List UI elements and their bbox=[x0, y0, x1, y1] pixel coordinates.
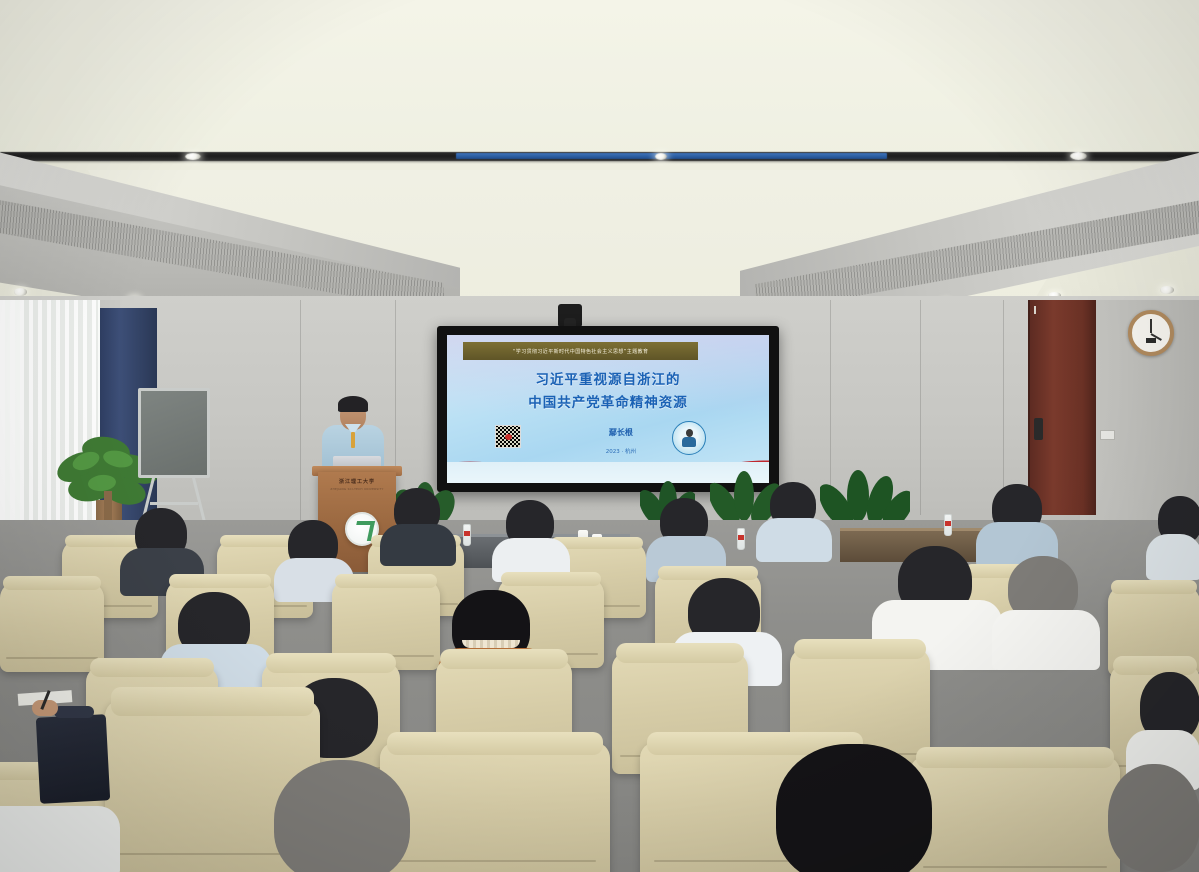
chair-headrest bbox=[916, 747, 1113, 768]
meeting-room-door[interactable] bbox=[1028, 300, 1096, 515]
attendee-body bbox=[380, 524, 456, 566]
chair-headrest bbox=[794, 639, 926, 659]
whiteboard-crossbar bbox=[150, 502, 198, 505]
attendee-taking-notes bbox=[0, 806, 120, 872]
chair-headrest bbox=[266, 653, 396, 673]
chair-headrest bbox=[387, 732, 603, 754]
ceiling-luminous-panel bbox=[0, 0, 1199, 160]
slide-title-line-2: 中国共产党革命精神资源 bbox=[447, 391, 769, 411]
bag-strap bbox=[54, 706, 94, 718]
podium-university-subtitle: ZHEJIANG SCI-TECH UNIVERSITY bbox=[322, 487, 392, 491]
chair-headrest bbox=[1111, 580, 1197, 594]
door-top-marker bbox=[1034, 306, 1036, 314]
ceiling-spotlight bbox=[655, 153, 667, 160]
ceiling-spotlight bbox=[185, 153, 201, 160]
podium-university-name: 浙江理工大学 bbox=[322, 478, 392, 485]
ceiling-downlight bbox=[14, 288, 27, 296]
chair-headrest bbox=[440, 649, 568, 669]
chair bbox=[910, 756, 1120, 872]
light-switch[interactable] bbox=[1100, 430, 1115, 440]
water-bottle bbox=[463, 524, 471, 546]
shoulder-bag bbox=[36, 714, 110, 804]
chair-headrest bbox=[111, 687, 313, 716]
chair-headrest bbox=[335, 574, 437, 588]
slide-speaker-name: 鄢长根 bbox=[576, 427, 666, 438]
mobile-whiteboard bbox=[138, 388, 210, 478]
speaker-hair bbox=[338, 396, 368, 412]
attendee-head bbox=[776, 744, 932, 872]
chair-headrest bbox=[3, 576, 101, 590]
chair-headrest bbox=[90, 658, 214, 677]
chair-headrest bbox=[1113, 656, 1198, 675]
wall-seam bbox=[1003, 300, 1004, 510]
chair-headrest bbox=[658, 566, 758, 580]
ceiling-spotlight bbox=[1070, 152, 1087, 160]
attendee-head bbox=[1108, 764, 1199, 872]
attendee-head bbox=[274, 760, 410, 872]
necklace bbox=[462, 640, 520, 648]
conference-room-photo: “学习贯彻习近平新时代中国特色社会主义思想”主题教育 习近平重视源自浙江的 中国… bbox=[0, 0, 1199, 872]
chair bbox=[380, 742, 610, 872]
clock-date-window bbox=[1146, 338, 1156, 343]
ceiling-downlight bbox=[1160, 286, 1174, 294]
wall-seam bbox=[300, 300, 301, 525]
chair bbox=[0, 582, 104, 672]
wall-seam bbox=[920, 300, 921, 515]
chair-headrest bbox=[501, 572, 601, 586]
chair-headrest bbox=[616, 643, 744, 663]
slide-theme-banner: “学习贯彻习近平新时代中国特色社会主义思想”主题教育 bbox=[463, 342, 698, 360]
slide-title-line-1: 习近平重视源自浙江的 bbox=[447, 368, 769, 388]
lanyard-badge bbox=[351, 432, 355, 448]
ceiling-light-strip-1 bbox=[0, 152, 1199, 161]
ceiling-camera-mount bbox=[558, 304, 582, 326]
attendee-body bbox=[992, 610, 1100, 670]
led-display-screen[interactable]: “学习贯彻习近平新时代中国特色社会主义思想”主题教育 习近平重视源自浙江的 中国… bbox=[437, 326, 779, 492]
presentation-slide: “学习贯彻习近平新时代中国特色社会主义思想”主题教育 习近平重视源自浙江的 中国… bbox=[447, 335, 769, 483]
wall-clock bbox=[1128, 310, 1174, 356]
water-bottle bbox=[737, 528, 745, 550]
door-handle[interactable] bbox=[1034, 418, 1043, 440]
water-bottle bbox=[944, 514, 952, 536]
attendee-body bbox=[1146, 534, 1199, 580]
chair-headrest bbox=[169, 574, 271, 589]
slide-banner-text: “学习贯彻习近平新时代中国特色社会主义思想”主题教育 bbox=[513, 348, 649, 355]
clock-hour-hand bbox=[1150, 319, 1152, 333]
ceiling-accent-blue bbox=[456, 153, 888, 159]
attendee-body bbox=[756, 518, 832, 562]
